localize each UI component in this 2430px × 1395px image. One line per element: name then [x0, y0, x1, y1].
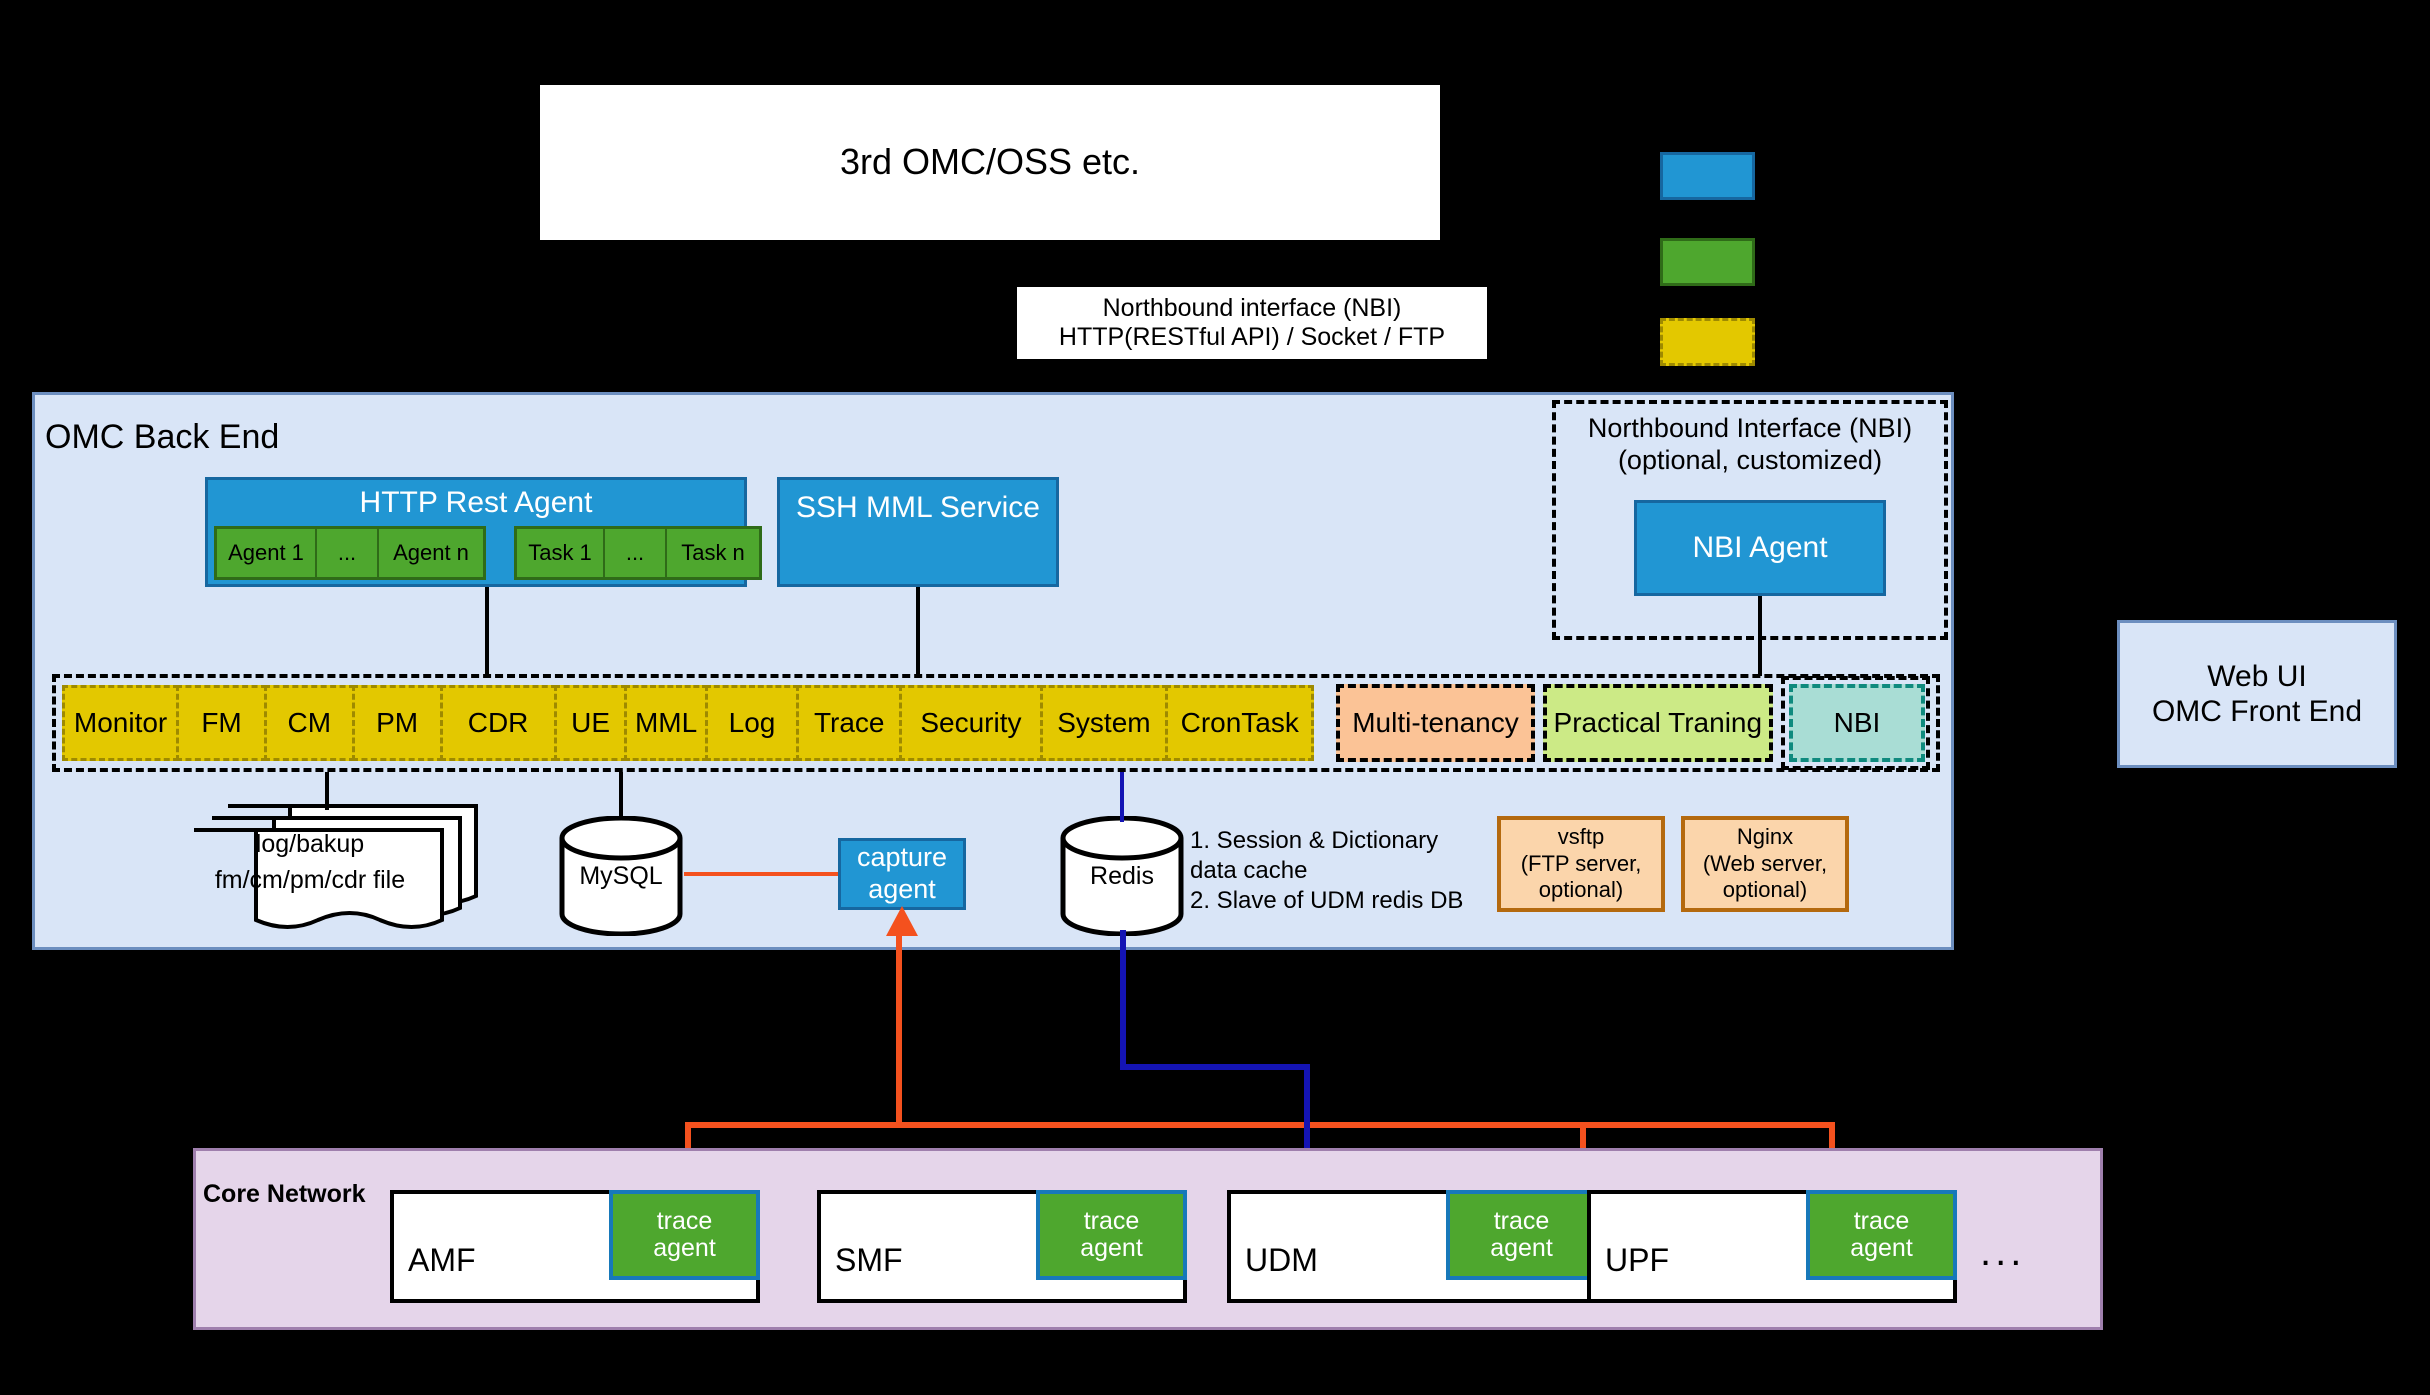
log-backup-files-stack: log/bakup fm/cm/pm/cdr file: [180, 800, 490, 930]
network-function-smf: SMF trace agent: [817, 1190, 1187, 1303]
nf-label-upf: UPF: [1605, 1242, 1669, 1279]
agent-chip-group: Agent 1 ... Agent n: [214, 526, 486, 580]
module-cdr[interactable]: CDR: [440, 685, 557, 761]
legend-swatch-yellow: [1660, 318, 1755, 366]
trace-agent-line1: trace: [1854, 1208, 1910, 1236]
third-party-omc-oss-label: 3rd OMC/OSS etc.: [840, 141, 1140, 183]
redis-note-line2: data cache: [1190, 856, 1490, 886]
docs-line2: fm/cm/pm/cdr file: [180, 862, 440, 898]
ssh-mml-service-box: SSH MML Service: [777, 477, 1059, 587]
connector-modules-to-logs: [325, 772, 329, 810]
trace-agent-line2: agent: [653, 1235, 716, 1263]
webui-line1: Web UI: [2207, 659, 2306, 694]
module-nbi[interactable]: NBI: [1789, 684, 1925, 762]
module-log[interactable]: Log: [705, 685, 800, 761]
network-function-udm: UDM trace agent: [1227, 1190, 1597, 1303]
connector-http-rest-agent-to-modules: [485, 587, 489, 676]
capture-agent-line1: capture: [857, 842, 947, 874]
ssh-mml-service-label: SSH MML Service: [796, 490, 1040, 525]
mysql-label: MySQL: [556, 862, 686, 891]
trace-agent-line2: agent: [1490, 1235, 1553, 1263]
connector-blue-horizontal: [1120, 1064, 1310, 1070]
trace-agent-box: trace agent: [1446, 1190, 1597, 1280]
nginx-line3: optional): [1723, 877, 1807, 904]
module-pm[interactable]: PM: [352, 685, 443, 761]
connector-modules-to-redis: [1120, 772, 1124, 822]
module-multi-tenancy[interactable]: Multi-tenancy: [1336, 684, 1534, 762]
network-function-upf: UPF trace agent: [1587, 1190, 1957, 1303]
vsftp-line2: (FTP server,: [1521, 851, 1642, 878]
arrowhead-capture-agent: [886, 906, 918, 936]
trace-agent-line2: agent: [1850, 1235, 1913, 1263]
legend-swatch-green: [1660, 238, 1755, 286]
trace-agent-line1: trace: [1084, 1208, 1140, 1236]
trace-agent-line1: trace: [657, 1208, 713, 1236]
nbi-caption-line1: Northbound interface (NBI): [1103, 294, 1402, 324]
northbound-interface-caption-box: Northbound interface (NBI) HTTP(RESTful …: [1017, 287, 1487, 359]
trace-agent-box: trace agent: [609, 1190, 760, 1280]
module-crontask[interactable]: CronTask: [1165, 685, 1314, 761]
core-network-ellipsis: ...: [1980, 1230, 2025, 1275]
docs-line1: log/bakup: [180, 826, 440, 862]
module-practical-traning[interactable]: Practical Traning: [1543, 684, 1773, 762]
nbi-area-title-line2: (optional, customized): [1556, 444, 1944, 476]
agent-chip: Agent n: [379, 529, 483, 577]
task-chip: Task 1: [517, 529, 605, 577]
nginx-name: Nginx: [1737, 824, 1793, 851]
task-chip-ellipsis: ...: [605, 529, 667, 577]
connector-nbi-agent-to-nbi-module: [1758, 596, 1762, 676]
module-monitor[interactable]: Monitor: [62, 685, 179, 761]
agent-chip: Agent 1: [217, 529, 317, 577]
module-cm[interactable]: CM: [264, 685, 355, 761]
connector-mysql-to-capture-agent: [684, 872, 840, 876]
nf-label-udm: UDM: [1245, 1242, 1318, 1279]
nf-label-smf: SMF: [835, 1242, 903, 1279]
module-bar: MonitorFMCMPMCDRUEMMLLogTraceSecuritySys…: [52, 674, 1940, 772]
network-function-amf: AMF trace agent: [390, 1190, 760, 1303]
module-trace[interactable]: Trace: [796, 685, 902, 761]
diagram-canvas: 3rd OMC/OSS etc. Northbound interface (N…: [0, 0, 2430, 1395]
redis-note-line1: 1. Session & Dictionary: [1190, 826, 1490, 856]
webui-line2: OMC Front End: [2152, 694, 2362, 729]
connector-third-omc-to-nbi-caption: [989, 240, 993, 287]
nbi-area-title-line1: Northbound Interface (NBI): [1556, 412, 1944, 444]
agent-chip-ellipsis: ...: [317, 529, 379, 577]
core-network-title: Core Network: [203, 1180, 366, 1209]
module-security[interactable]: Security: [899, 685, 1043, 761]
redis-note-line3: 2. Slave of UDM redis DB: [1190, 886, 1490, 916]
connector-orange-vertical-to-capture-agent: [896, 934, 902, 1126]
nbi-agent-box: NBI Agent: [1634, 500, 1886, 596]
trace-agent-box: trace agent: [1036, 1190, 1187, 1280]
nf-label-amf: AMF: [408, 1242, 476, 1279]
connector-orange-horizontal-bus: [685, 1122, 1835, 1128]
connector-blue-redis-down: [1120, 930, 1126, 1070]
connector-ssh-mml-to-modules: [916, 587, 920, 676]
vsftp-line3: optional): [1539, 877, 1623, 904]
web-ui-omc-front-end-box: Web UI OMC Front End: [2117, 620, 2397, 768]
log-backup-files-label: log/bakup fm/cm/pm/cdr file: [180, 826, 440, 899]
module-fm[interactable]: FM: [176, 685, 267, 761]
nbi-agent-label: NBI Agent: [1692, 530, 1827, 565]
connector-modules-to-mysql: [619, 772, 623, 818]
third-party-omc-oss-box: 3rd OMC/OSS etc.: [540, 85, 1440, 240]
trace-agent-line2: agent: [1080, 1235, 1143, 1263]
redis-note: 1. Session & Dictionary data cache 2. Sl…: [1190, 826, 1490, 917]
trace-agent-box: trace agent: [1806, 1190, 1957, 1280]
omc-back-end-title: OMC Back End: [45, 418, 279, 457]
vsftp-optional-server-box: vsftp (FTP server, optional): [1497, 816, 1665, 912]
nbi-area-title: Northbound Interface (NBI) (optional, cu…: [1556, 412, 1944, 477]
capture-agent-box: capture agent: [838, 838, 966, 910]
trace-agent-line1: trace: [1494, 1208, 1550, 1236]
module-nbi-wrapper: NBI: [1781, 676, 1930, 770]
module-ue[interactable]: UE: [554, 685, 628, 761]
module-system[interactable]: System: [1040, 685, 1168, 761]
vsftp-name: vsftp: [1558, 824, 1604, 851]
nbi-caption-line2: HTTP(RESTful API) / Socket / FTP: [1059, 323, 1445, 353]
nginx-optional-server-box: Nginx (Web server, optional): [1681, 816, 1849, 912]
legend-swatch-blue: [1660, 152, 1755, 200]
nginx-line2: (Web server,: [1703, 851, 1827, 878]
http-rest-agent-box: HTTP Rest Agent Agent 1 ... Agent n Task…: [205, 477, 747, 587]
capture-agent-line2: agent: [868, 874, 936, 906]
redis-label: Redis: [1057, 862, 1187, 891]
module-mml[interactable]: MML: [624, 685, 707, 761]
http-rest-agent-title: HTTP Rest Agent: [208, 486, 744, 520]
task-chip: Task n: [667, 529, 759, 577]
task-chip-group: Task 1 ... Task n: [514, 526, 762, 580]
